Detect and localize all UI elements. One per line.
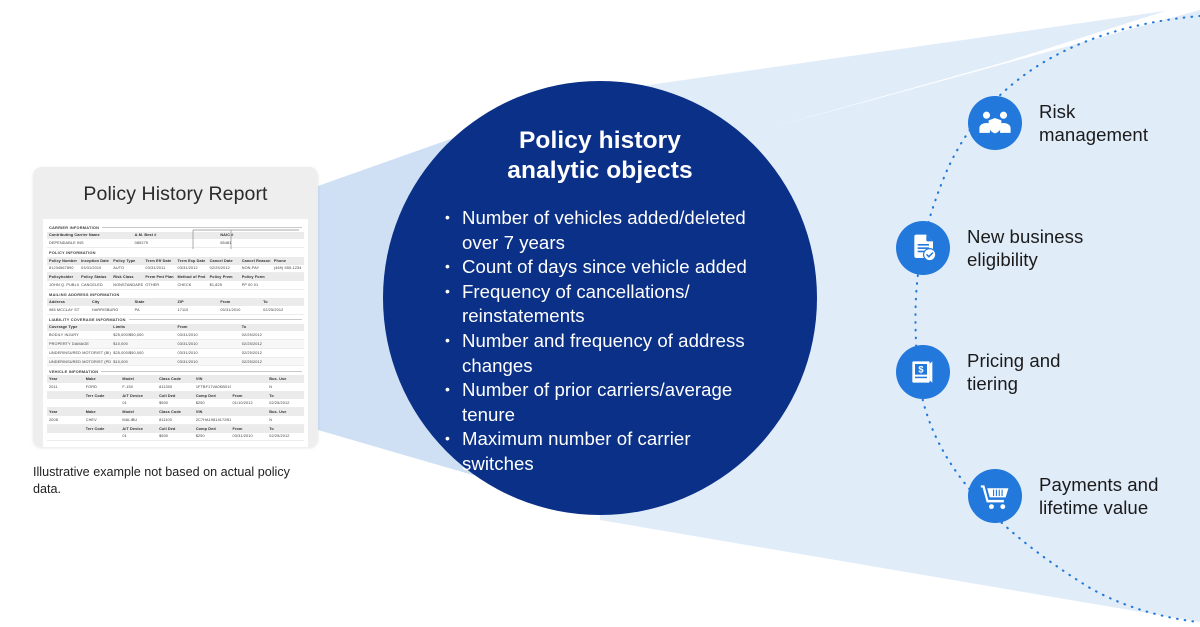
hub-title-line-1: Policy history — [383, 126, 817, 156]
cell: 03/31/2010 — [176, 331, 240, 339]
hub-bullet-item: Frequency of cancellations/ reinstatemen… — [445, 280, 763, 329]
section-rule — [101, 371, 302, 372]
vehicle-information-table: Year Make Model Class Code VIN Bus. Use … — [47, 375, 304, 441]
cell: 03/31/2010 — [176, 340, 240, 349]
column-header: Coverage Type — [47, 324, 111, 332]
cell: 02/25/2012 — [267, 433, 304, 441]
cell — [84, 399, 121, 407]
column-header: Limits — [111, 324, 175, 332]
cell: JOHN Q. PUBLIC — [47, 281, 79, 289]
section-header-carrier-label: CARRIER INFORMATION — [49, 225, 99, 230]
column-header: Cancel Reason — [240, 257, 272, 265]
table-row: 81234567890 03/31/2010 AUTO 03/31/2011 0… — [47, 265, 304, 273]
table-row: 01 $500 $250 03/31/2010 02/25/2012 — [47, 433, 304, 441]
cell: 03/31/2010 — [79, 265, 111, 273]
table-header-row: Policyholder Policy Status Risk Class Pr… — [47, 273, 304, 281]
column-header: From — [231, 424, 268, 432]
table-header-row: Year Make Model Class Code VIN Bus. Use — [47, 375, 304, 383]
table-header-row: Terr Code A/T Device Coll Ded Comp Ded F… — [47, 391, 304, 399]
cell: 2008 — [47, 416, 84, 424]
cell: PROPERTY DAMAGE — [47, 340, 111, 349]
section-header-mailing-address: MAILING ADDRESS INFORMATION — [47, 290, 304, 299]
cell: 811100 — [157, 416, 194, 424]
column-header — [231, 408, 268, 416]
cell: 03/31/2012 — [176, 265, 208, 273]
cell: $250 — [194, 433, 231, 441]
cell: $500 — [157, 399, 194, 407]
cell: PP 00 01 — [240, 281, 272, 289]
cell: HARRISBURG — [90, 306, 133, 314]
column-header: Policy Status — [79, 273, 111, 281]
cell: 81234567890 — [47, 265, 79, 273]
table-header-row: Year Make Model Class Code VIN Bus. Use — [47, 408, 304, 416]
column-header: Policy Prem — [208, 273, 240, 281]
section-header-carrier: CARRIER INFORMATION — [47, 223, 304, 232]
column-header: Cancel Date — [208, 257, 240, 265]
column-header: Method of Pmt — [176, 273, 208, 281]
column-header: A.M. Best # — [133, 232, 219, 240]
cell: $1,825 — [208, 281, 240, 289]
cell: $10,000 — [111, 340, 175, 349]
cell: 2011 — [47, 383, 84, 391]
cell: CANCELED — [79, 281, 111, 289]
table-row: 01 $500 $250 01/10/2012 02/25/2012 — [47, 399, 304, 407]
hub-title-line-2: analytic objects — [383, 156, 817, 186]
table-row: UNDERINSURED MOTORIST (PD) $10,000 03/31… — [47, 357, 304, 366]
cell: 985 MCCLAY ST — [47, 306, 90, 314]
table-row: BODILY INJURY $25,000/$50,000 03/31/2010… — [47, 331, 304, 339]
liability-coverage-table: Coverage Type Limits From To BODILY INJU… — [47, 324, 304, 367]
column-header: VIN — [194, 408, 231, 416]
table-row: JOHN Q. PUBLIC CANCELED NONSTANDARD OTHE… — [47, 281, 304, 289]
hub-title: Policy history analytic objects — [383, 81, 817, 186]
column-header: Make — [84, 408, 121, 416]
section-rule — [129, 319, 302, 320]
carrier-information-table: Contributing Carrier Name A.M. Best # NA… — [47, 232, 304, 249]
cell: 17110 — [175, 306, 218, 314]
table-header-row: Address City State ZIP From To — [47, 298, 304, 306]
hub-bullet-item: Number and frequency of address changes — [445, 329, 763, 378]
table-header-row: Contributing Carrier Name A.M. Best # NA… — [47, 232, 304, 240]
infographic-canvas: Policy History Report CARRIER INFORMATIO… — [0, 0, 1200, 627]
outcome-label: Pricing and tiering — [967, 349, 1061, 396]
table-row: 985 MCCLAY ST HARRISBURG PA 17110 03/31/… — [47, 306, 304, 314]
cell: 02/25/2012 — [240, 331, 304, 339]
column-header: Model — [120, 375, 157, 383]
column-header: A/T Device — [120, 391, 157, 399]
cell: PA — [133, 306, 176, 314]
cell: 02/25/2012 — [240, 357, 304, 366]
cell: CHEV — [84, 416, 121, 424]
section-header-policy-label: POLICY INFORMATION — [49, 250, 96, 255]
hub-bullet-item: Maximum number of carrier switches — [445, 427, 763, 476]
cell: UNDERINSURED MOTORIST (BI) — [47, 348, 111, 357]
table-row: UNDERINSURED MOTORIST (BI) $25,000/$50,0… — [47, 348, 304, 357]
column-header: Terr Code — [84, 424, 121, 432]
table-header-row: Coverage Type Limits From To — [47, 324, 304, 332]
document-check-icon — [896, 221, 950, 275]
cell — [231, 416, 268, 424]
outcome-pricing-and-tiering[interactable]: $ Pricing and tiering — [896, 345, 1061, 399]
column-header: Contributing Carrier Name — [47, 232, 133, 240]
cell: $500 — [157, 433, 194, 441]
hub-bullet-list: Number of vehicles added/deleted over 7 … — [383, 186, 817, 477]
cell: 2C7HA19814172B1878 — [194, 416, 231, 424]
column-header: Year — [47, 375, 84, 383]
cell: 01/10/2012 — [231, 399, 268, 407]
section-header-liability-label: LIABILITY COVERAGE INFORMATION — [49, 317, 126, 322]
cell-spacer — [272, 281, 304, 289]
column-header: Policyholder — [47, 273, 79, 281]
column-header: Comp Ded — [194, 391, 231, 399]
cell: (469) 555-1234 — [272, 265, 304, 273]
cell: $10,000 — [111, 357, 175, 366]
cell: 03/31/2010 — [176, 348, 240, 357]
table-row: 2011 FORD F-150 811300 1FTBF17VA0KB01938… — [47, 383, 304, 391]
policy-information-table: Policy Number Inception Date Policy Type… — [47, 257, 304, 290]
cell: 01 — [120, 399, 157, 407]
column-header: NAIC # — [218, 232, 304, 240]
report-caption: Illustrative example not based on actual… — [33, 464, 313, 497]
column-header: To — [261, 298, 304, 306]
report-body: CARRIER INFORMATION Contributing Carrier… — [43, 219, 308, 447]
mailing-address-table: Address City State ZIP From To 985 MCCLA… — [47, 298, 304, 315]
table-row: PROPERTY DAMAGE $10,000 03/31/2010 02/25… — [47, 340, 304, 349]
outcome-risk-management[interactable]: Risk management — [968, 96, 1148, 150]
column-header: Prem Pmt Plan — [143, 273, 175, 281]
column-header: Class Code — [157, 375, 194, 383]
ledger-dollar-icon: $ — [896, 345, 950, 399]
cell: BODILY INJURY — [47, 331, 111, 339]
column-header: A/T Device — [120, 424, 157, 432]
column-header — [47, 424, 84, 432]
cell: MALIBU — [120, 416, 157, 424]
outcome-label: Risk management — [1039, 100, 1148, 147]
table-row: 2008 CHEV MALIBU 811100 2C7HA19814172B18… — [47, 416, 304, 424]
column-header: Risk Class — [111, 273, 143, 281]
column-header: Model — [120, 408, 157, 416]
cell: 02/25/2012 — [208, 265, 240, 273]
column-header: From — [231, 391, 268, 399]
column-header: City — [90, 298, 133, 306]
shopping-cart-icon — [968, 469, 1022, 523]
column-header: Term Exp Date — [176, 257, 208, 265]
cell: 03/31/2011 — [143, 265, 175, 273]
column-header: VIN — [194, 375, 231, 383]
cell: OTHER — [143, 281, 175, 289]
column-header: Policy Number — [47, 257, 79, 265]
policy-history-report-card: Policy History Report CARRIER INFORMATIO… — [33, 167, 318, 447]
cell: 085279 — [133, 239, 219, 247]
report-title: Policy History Report — [33, 167, 318, 206]
column-header: Policy Type — [111, 257, 143, 265]
column-header: To — [267, 391, 304, 399]
column-header — [231, 375, 268, 383]
column-header: Comp Ded — [194, 424, 231, 432]
cell: 02/25/2012 — [267, 399, 304, 407]
cell: 65481 — [218, 239, 304, 247]
column-header — [47, 391, 84, 399]
cell: 02/25/2012 — [261, 306, 304, 314]
cell: NON-PAY — [240, 265, 272, 273]
outcome-new-business-eligibility[interactable]: New business eligibility — [896, 221, 1083, 275]
section-header-policy: POLICY INFORMATION — [47, 248, 304, 257]
hub-bullet-item: Number of vehicles added/deleted over 7 … — [445, 206, 763, 255]
cell: NONSTANDARD — [111, 281, 143, 289]
cell: 02/25/2012 — [240, 348, 304, 357]
column-header: Inception Date — [79, 257, 111, 265]
cell: AUTO — [111, 265, 143, 273]
cell — [84, 433, 121, 441]
hub-bullet-item: Count of days since vehicle added — [445, 255, 763, 280]
hub-bullet-item: Number of prior carriers/average tenure — [445, 378, 763, 427]
table-header-row: Policy Number Inception Date Policy Type… — [47, 257, 304, 265]
cell: F-150 — [120, 383, 157, 391]
column-header: State — [133, 298, 176, 306]
column-header: From — [176, 324, 240, 332]
column-header: Make — [84, 375, 121, 383]
section-header-vehicle: VEHICLE INFORMATION — [47, 366, 304, 375]
cell: CHECK — [176, 281, 208, 289]
column-header: Bus. Use — [267, 408, 304, 416]
people-shield-icon — [968, 96, 1022, 150]
column-header: Year — [47, 408, 84, 416]
policy-history-hub-circle: Policy history analytic objects Number o… — [383, 81, 817, 515]
section-header-liability: LIABILITY COVERAGE INFORMATION — [47, 315, 304, 324]
column-header: Coll Ded — [157, 391, 194, 399]
cell — [231, 383, 268, 391]
outcome-payments-lifetime-value[interactable]: Payments and lifetime value — [968, 469, 1158, 523]
column-header: Bus. Use — [267, 375, 304, 383]
column-header: Terr Code — [84, 391, 121, 399]
svg-text:$: $ — [918, 365, 924, 375]
column-header: Policy Form — [240, 273, 272, 281]
cell — [47, 399, 84, 407]
section-header-mailing-address-label: MAILING ADDRESS INFORMATION — [49, 292, 120, 297]
cell: $25,000/$50,000 — [111, 331, 175, 339]
cell — [47, 433, 84, 441]
cell: $25,000/$50,000 — [111, 348, 175, 357]
column-header-spacer — [272, 273, 304, 281]
cell: 03/31/2010 — [231, 433, 268, 441]
cell: 01 — [120, 433, 157, 441]
cell: 811300 — [157, 383, 194, 391]
column-header: To — [240, 324, 304, 332]
section-header-vehicle-label: VEHICLE INFORMATION — [49, 369, 98, 374]
column-header: Class Code — [157, 408, 194, 416]
cell: 1FTBF17VA0KB019387 — [194, 383, 231, 391]
column-header: To — [267, 424, 304, 432]
cell: DEPENDABLE INS — [47, 239, 133, 247]
cell: 02/25/2012 — [240, 340, 304, 349]
table-header-row: Terr Code A/T Device Coll Ded Comp Ded F… — [47, 424, 304, 432]
column-header: Coll Ded — [157, 424, 194, 432]
cell: N — [267, 383, 304, 391]
outcome-label: Payments and lifetime value — [1039, 473, 1158, 520]
cell: UNDERINSURED MOTORIST (PD) — [47, 357, 111, 366]
cell: 03/31/2010 — [176, 357, 240, 366]
cell: 03/31/2010 — [218, 306, 261, 314]
column-header: ZIP — [175, 298, 218, 306]
cell: FORD — [84, 383, 121, 391]
table-row: DEPENDABLE INS 085279 65481 — [47, 239, 304, 247]
column-header: Address — [47, 298, 90, 306]
cell: N — [267, 416, 304, 424]
outcome-label: New business eligibility — [967, 225, 1083, 272]
column-header: Phone — [272, 257, 304, 265]
column-header: Term Eff Date — [143, 257, 175, 265]
section-rule — [102, 227, 302, 228]
column-header: From — [218, 298, 261, 306]
cell: $250 — [194, 399, 231, 407]
